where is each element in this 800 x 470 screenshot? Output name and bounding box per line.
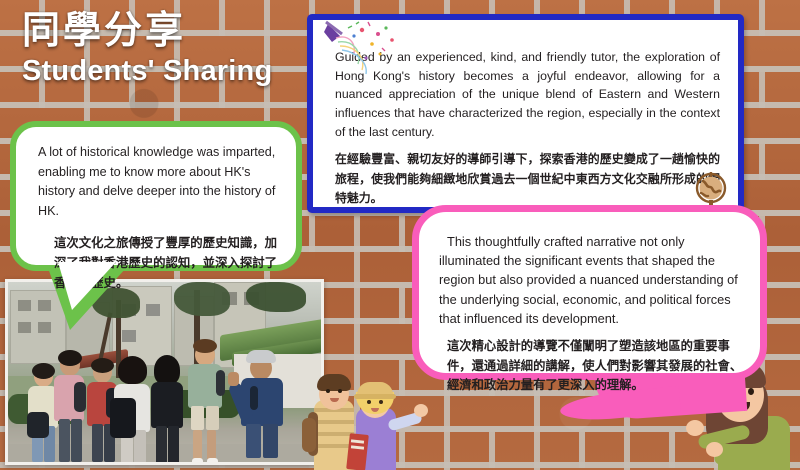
- page-title: 同學分享 Students' Sharing: [22, 12, 272, 88]
- blue-bubble-chinese-text: 在經驗豐富、親切友好的導師引導下，探索香港的歷史變成了一趟愉快的旅程，使我們能夠…: [335, 150, 720, 208]
- pink-bubble-chinese-text: 這次精心設計的導覽不僅闡明了塑造該地區的重要事件，還通過詳細的講解，使人們對影響…: [439, 337, 746, 396]
- pink-bubble-english-line1: This thoughtfully crafted narrative not …: [439, 234, 685, 249]
- green-bubble-english-text: A lot of historical knowledge was impart…: [38, 143, 278, 221]
- pink-bubble-english-text: This thoughtfully crafted narrative not …: [439, 232, 746, 328]
- photo-tour-guide: [240, 350, 286, 462]
- poster-root: 同學分享 Students' Sharing: [0, 0, 800, 470]
- cartoon-tourist-couple: [300, 378, 430, 470]
- party-popper-icon: [322, 20, 418, 82]
- page-title-english: Students' Sharing: [22, 56, 272, 88]
- green-bubble-tail-inner: [58, 262, 116, 310]
- student-sharing-pink-bubble: This thoughtfully crafted narrative not …: [412, 205, 767, 380]
- page-title-chinese: 同學分享: [22, 12, 272, 52]
- student-sharing-green-bubble: A lot of historical knowledge was impart…: [10, 121, 302, 271]
- student-sharing-blue-bubble: Guided by an experienced, kind, and frie…: [307, 14, 744, 213]
- pink-bubble-english-rest: illuminated the significant events that …: [439, 253, 738, 326]
